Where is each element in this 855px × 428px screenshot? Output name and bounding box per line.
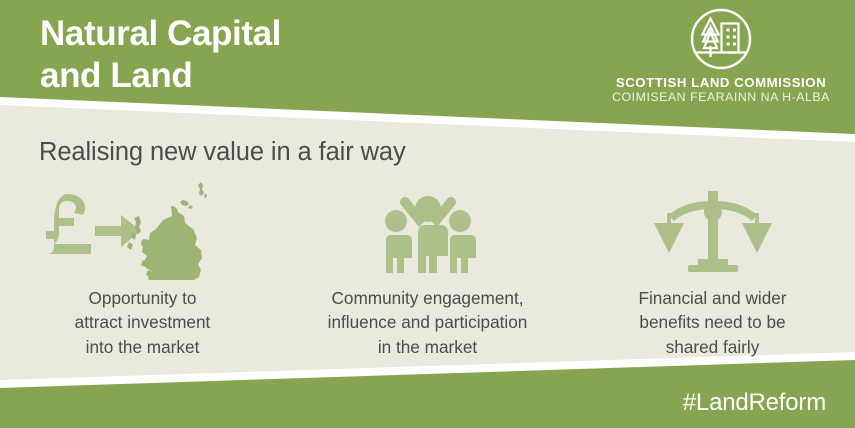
feature-caption-line: Opportunity to [75, 286, 211, 310]
feature-caption-line: into the market [75, 335, 211, 359]
subtitle: Realising new value in a fair way [39, 138, 406, 167]
feature-list: Opportunity to attract investment into t… [0, 186, 855, 361]
feature-caption-line: benefits need to be [638, 310, 786, 334]
feature-caption: Community engagement, influence and part… [328, 286, 528, 359]
scottish-land-commission-logo: SCOTTISH LAND COMMISSION COIMISEAN FEARA… [601, 8, 841, 106]
balance-scales-icon [654, 187, 772, 273]
feature-caption-line: shared fairly [638, 335, 786, 359]
feature-caption-line: influence and participation [328, 310, 528, 334]
feature-caption-line: Financial and wider [638, 286, 786, 310]
feature-icon-wrapper [654, 186, 772, 274]
pound-arrow-scotland-map-icon [43, 180, 243, 280]
page-title-line-1: Natural Capital [40, 13, 281, 55]
feature-icon-wrapper [368, 186, 488, 274]
feature-item-fair-share: Financial and wider benefits need to be … [570, 186, 855, 361]
feature-item-investment: Opportunity to attract investment into t… [0, 186, 285, 361]
logo-name-english: SCOTTISH LAND COMMISSION [601, 75, 841, 90]
feature-caption: Financial and wider benefits need to be … [638, 286, 786, 359]
natural-capital-and-land-banner: Natural Capital and Land SCOTTISH LAND C… [0, 0, 855, 428]
feature-caption-line: in the market [328, 335, 528, 359]
tree-and-building-in-circle-icon [690, 8, 752, 70]
feature-caption-line: Community engagement, [328, 286, 528, 310]
page-title: Natural Capital and Land [40, 13, 281, 96]
page-title-line-2: and Land [40, 55, 281, 97]
feature-caption-line: attract investment [75, 310, 211, 334]
logo-name-gaelic: COIMISEAN FEARAINN NA H-ALBA [601, 90, 841, 106]
feature-caption: Opportunity to attract investment into t… [75, 286, 211, 359]
feature-item-community: Community engagement, influence and part… [285, 186, 570, 361]
community-group-people-icon [368, 187, 488, 273]
feature-icon-wrapper [43, 186, 243, 274]
hashtag-land-reform: #LandReform [683, 389, 826, 417]
